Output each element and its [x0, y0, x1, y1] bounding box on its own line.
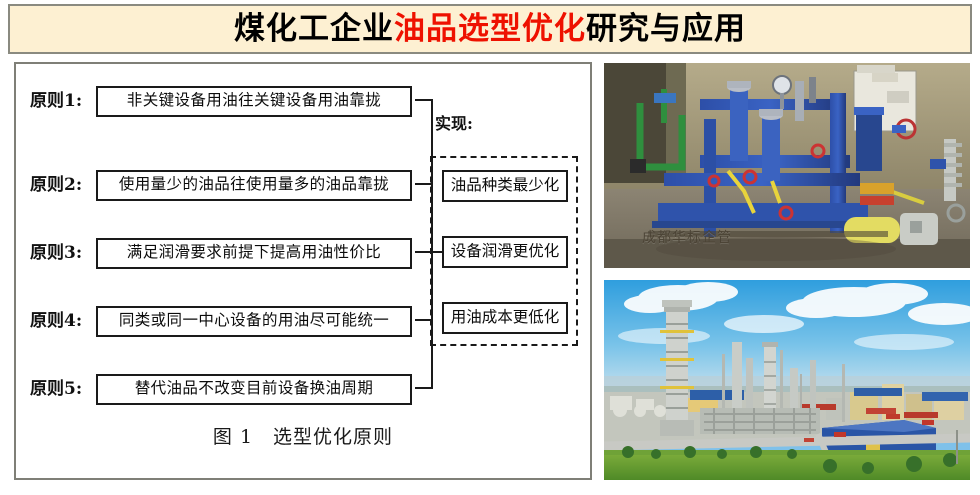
- title-banner: 煤化工企业油品选型优化研究与应用: [8, 4, 972, 54]
- equipment-photo: 成都华标企管: [604, 63, 970, 268]
- principle-row-4: 原则4: 同类或同一中心设备的用油尽可能统一: [30, 304, 412, 338]
- principle-text-2: 使用量少的油品往使用量多的油品靠拢: [119, 177, 389, 193]
- outcome-text-3: 用油成本更低化: [451, 310, 560, 326]
- principle-text-5: 替代油品不改变目前设备换油周期: [135, 381, 374, 397]
- principle-box-4[interactable]: 同类或同一中心设备的用油尽可能统一: [96, 306, 412, 337]
- outcome-group: 油品种类最少化 设备润滑更优化 用油成本更低化: [430, 156, 578, 346]
- outcome-box-3[interactable]: 用油成本更低化: [442, 302, 568, 334]
- connector-stub-1: [415, 99, 432, 101]
- principle-label-5: 原则5:: [30, 381, 96, 398]
- figure-caption: 图 1 选型优化原则: [16, 428, 590, 447]
- title-highlight: 油品选型优化: [394, 11, 586, 47]
- principle-label-4: 原则4:: [30, 313, 96, 330]
- realize-label: 实现:: [435, 116, 473, 132]
- plant-photo-graphic: [604, 280, 970, 480]
- principle-label-2: 原则2:: [30, 177, 96, 194]
- principle-box-5[interactable]: 替代油品不改变目前设备换油周期: [96, 374, 412, 405]
- outcome-box-2[interactable]: 设备润滑更优化: [442, 236, 568, 268]
- principle-row-5: 原则5: 替代油品不改变目前设备换油周期: [30, 372, 412, 406]
- principle-label-1: 原则1:: [30, 93, 96, 110]
- principle-box-3[interactable]: 满足润滑要求前提下提高用油性价比: [96, 238, 412, 269]
- page-title: 煤化工企业油品选型优化研究与应用: [234, 14, 746, 45]
- outcome-text-2: 设备润滑更优化: [451, 244, 560, 260]
- title-part-2: 研究与应用: [586, 11, 746, 47]
- principle-row-3: 原则3: 满足润滑要求前提下提高用油性价比: [30, 236, 412, 270]
- principle-label-3: 原则3:: [30, 245, 96, 262]
- principle-text-4: 同类或同一中心设备的用油尽可能统一: [119, 313, 389, 329]
- equipment-photo-graphic: [604, 63, 970, 268]
- principle-text-1: 非关键设备用油往关键设备用油靠拢: [127, 93, 381, 109]
- principle-row-2: 原则2: 使用量少的油品往使用量多的油品靠拢: [30, 168, 412, 202]
- outcome-box-1[interactable]: 油品种类最少化: [442, 170, 568, 202]
- connector-stub-5: [415, 387, 432, 389]
- principle-box-1[interactable]: 非关键设备用油往关键设备用油靠拢: [96, 86, 412, 117]
- principle-box-2[interactable]: 使用量少的油品往使用量多的油品靠拢: [96, 170, 412, 201]
- principle-row-1: 原则1: 非关键设备用油往关键设备用油靠拢: [30, 84, 412, 118]
- outcome-text-1: 油品种类最少化: [451, 178, 560, 194]
- principle-text-3: 满足润滑要求前提下提高用油性价比: [127, 245, 381, 261]
- plant-photo: [604, 280, 970, 480]
- title-part-1: 煤化工企业: [234, 11, 394, 47]
- diagram-panel: 原则1: 非关键设备用油往关键设备用油靠拢 原则2: 使用量少的油品往使用量多的…: [14, 62, 592, 480]
- slide-canvas: 煤化工企业油品选型优化研究与应用 原则1: 非关键设备用油往关键设备用油靠拢 原…: [0, 0, 980, 495]
